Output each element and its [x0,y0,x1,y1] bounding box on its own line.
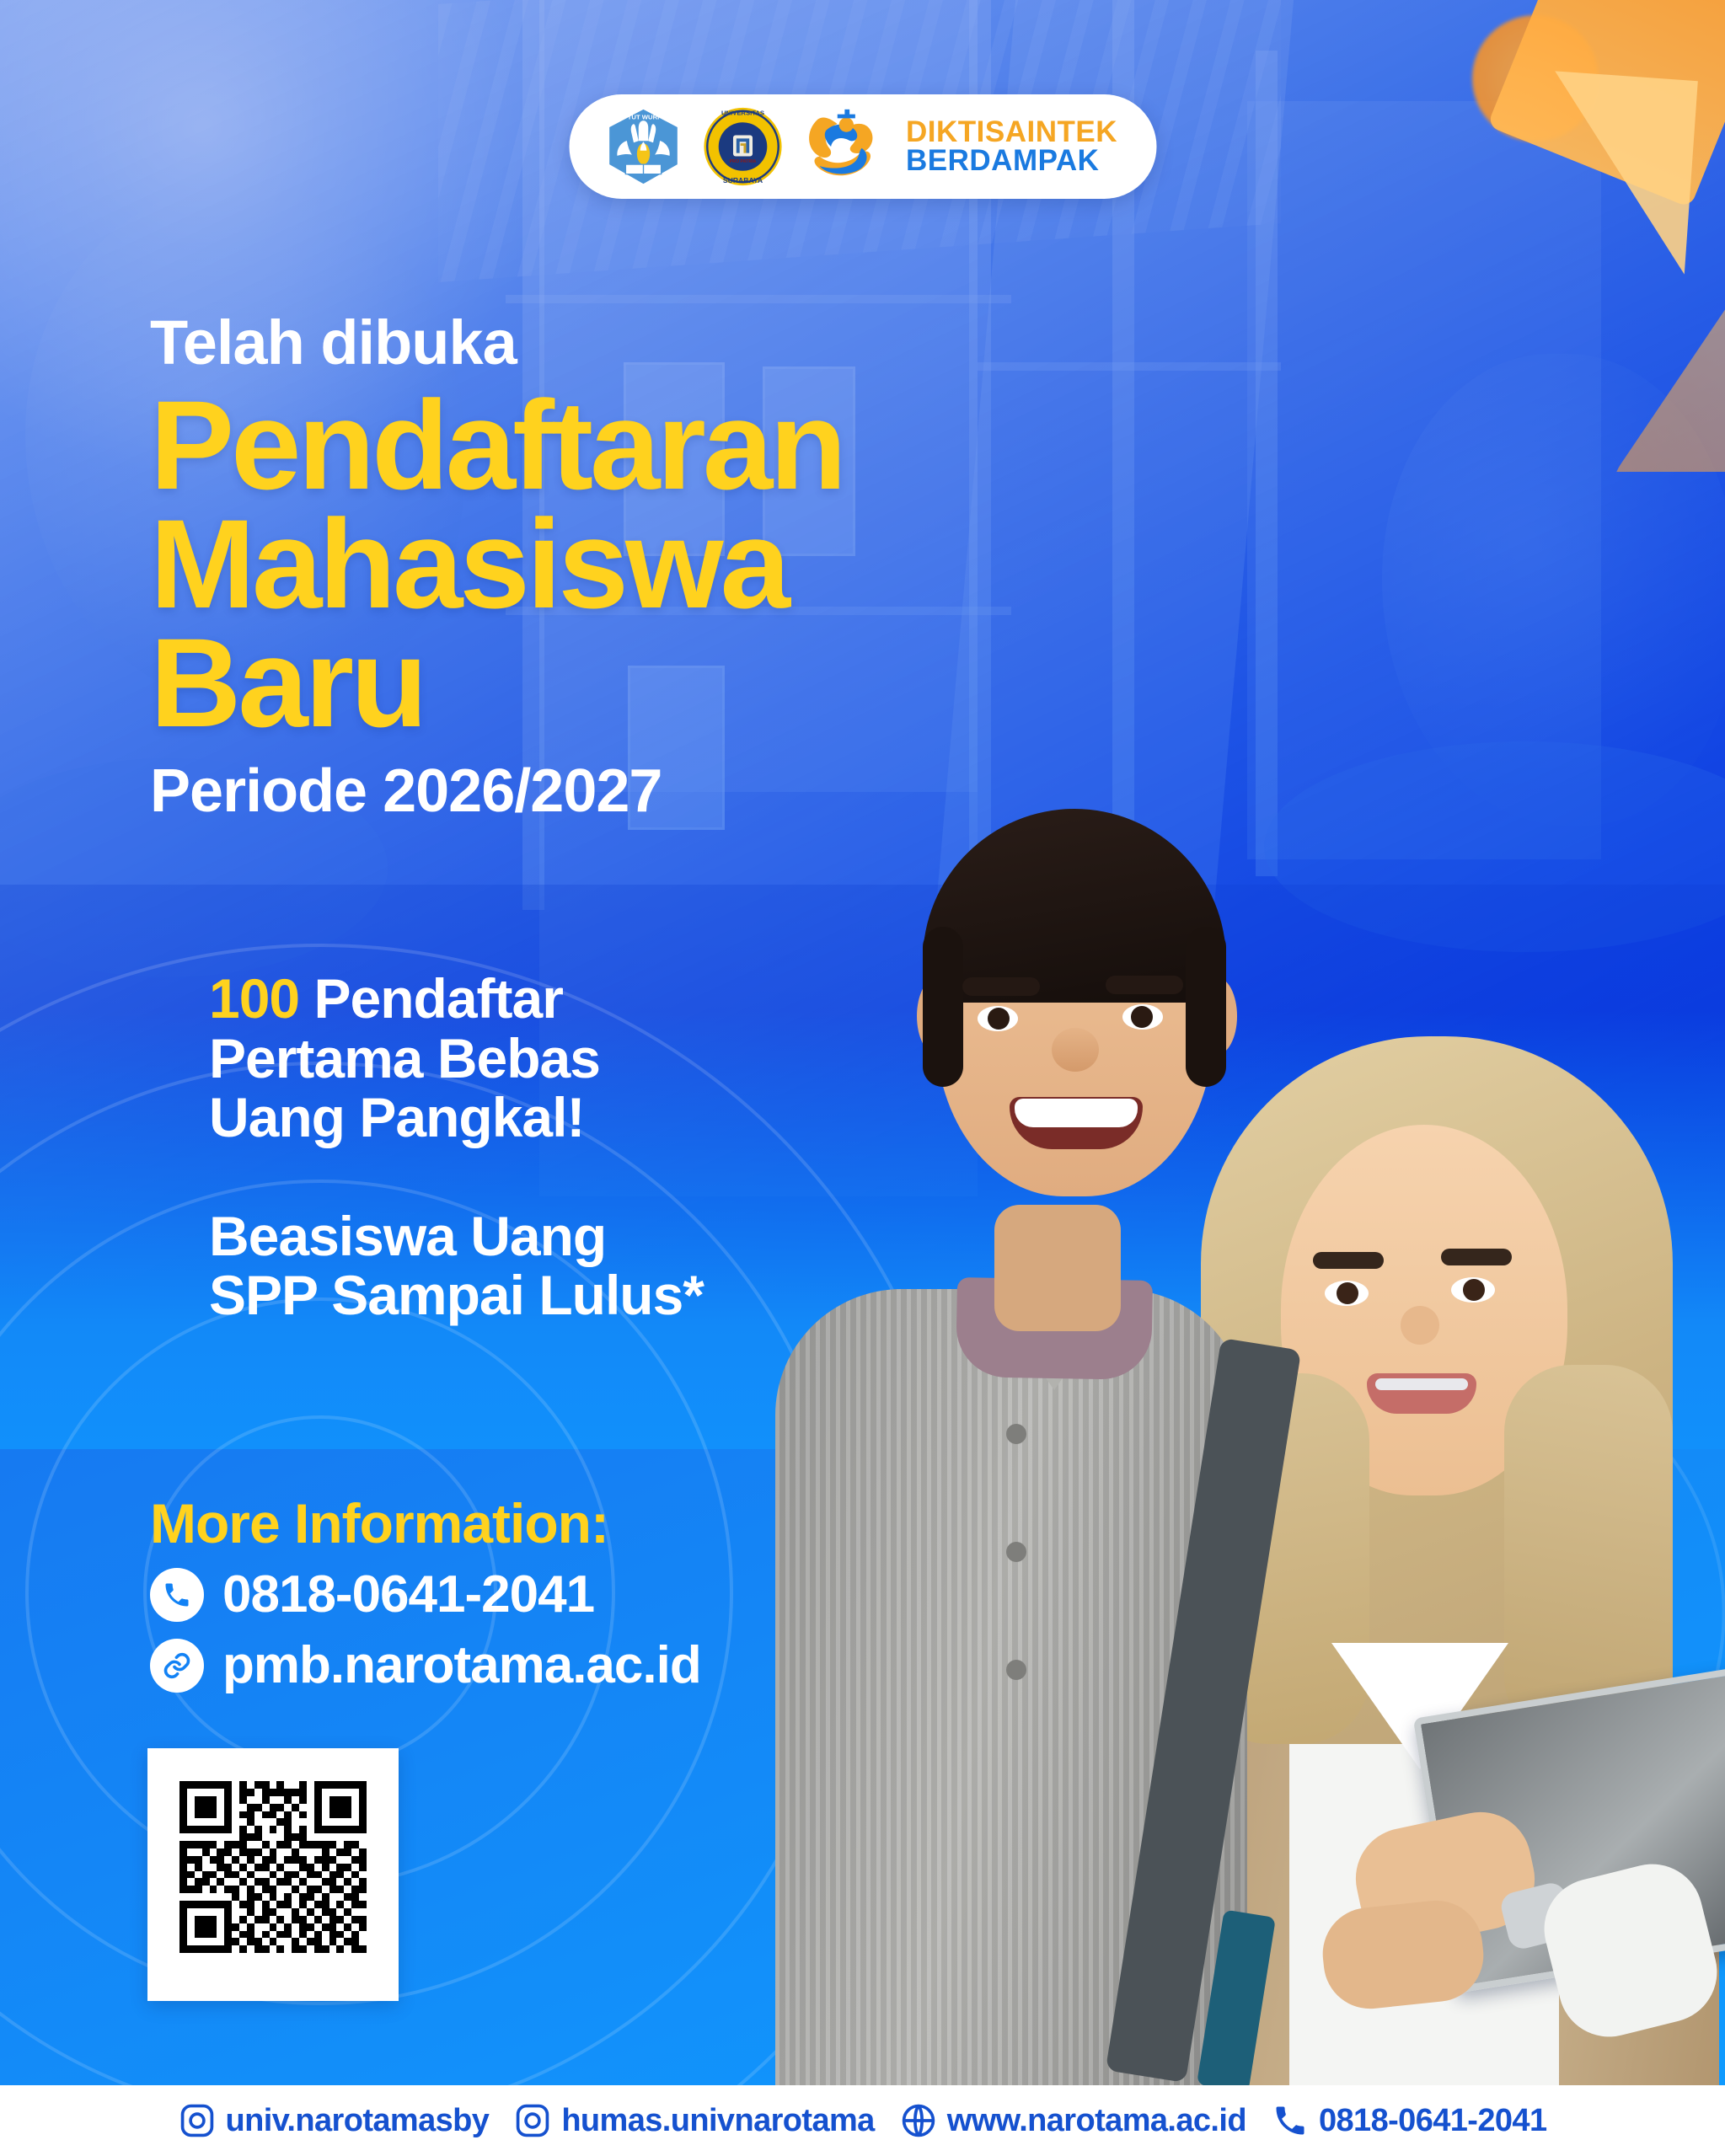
contact-phone-number: 0818-0641-2041 [222,1569,594,1621]
female-brow-left [1313,1252,1384,1269]
logo-bar: TUT WURI UNIVERSITAS SURABAYA PRO PATRIA [569,94,1156,199]
footer-bar: univ.narotamasby humas.univnarotama www.… [0,2085,1725,2156]
instagram-icon [179,2102,216,2139]
male-brow-left [962,977,1040,996]
shirt-button [1006,1542,1026,1562]
universitas-narotama-logo: UNIVERSITAS SURABAYA PRO PATRIA [702,106,783,187]
link-icon [150,1639,204,1693]
phone-icon [150,1568,204,1622]
svg-text:TUT WURI: TUT WURI [627,113,659,120]
male-sideburn-right [1186,927,1226,1087]
contact-website-row[interactable]: pmb.narotama.ac.id [150,1639,841,1693]
qr-code-card[interactable] [147,1748,399,2001]
male-nose [1052,1028,1099,1072]
footer-text: 0818-0641-2041 [1319,2103,1547,2139]
footer-text: univ.narotamasby [226,2103,490,2139]
qr-code [179,1781,367,1968]
instagram-icon [514,2102,551,2139]
svg-text:UNIVERSITAS: UNIVERSITAS [721,110,763,117]
female-pupil-left [1337,1282,1358,1304]
footer-text: humas.univnarotama [561,2103,874,2139]
footer-item-instagram-1[interactable]: univ.narotamasby [179,2102,490,2139]
diktisaintek-wordmark: DIKTISAINTEK BERDAMPAK [906,118,1122,176]
contact-phone-row[interactable]: 0818-0641-2041 [150,1568,841,1622]
contact-website-url: pmb.narotama.ac.id [222,1640,701,1692]
diktisaintek-line2: BERDAMPAK [906,147,1117,175]
headline-line-3: Baru [150,623,1144,742]
shirt-button [1006,1424,1026,1444]
diktisaintek-line1: DIKTISAINTEK [906,118,1117,147]
contact-block: More Information: 0818-0641-2041 pmb.nar… [150,1495,841,1693]
phone-icon [1272,2102,1309,2139]
male-brow-right [1106,976,1183,994]
eyebrow-text: Telah dibuka [150,312,1144,374]
tut-wuri-handayani-logo: TUT WURI [603,106,683,187]
students-photo [742,784,1725,2085]
footer-item-website[interactable]: www.narotama.ac.id [900,2102,1246,2139]
offer-highlight: 100 [209,967,299,1030]
male-pupil-right [1131,1006,1153,1028]
hero-copy: Telah dibuka Pendaftaran Mahasiswa Baru … [150,312,1144,821]
female-brow-right [1441,1249,1512,1265]
male-hair [923,809,1226,1003]
footer-item-instagram-2[interactable]: humas.univnarotama [514,2102,874,2139]
offer-rest: Pendaftar [299,967,563,1030]
headline-line-2: Mahasiswa [150,505,1144,623]
female-nose [1401,1306,1439,1345]
male-sideburn-left [923,927,963,1087]
svg-text:SURABAYA: SURABAYA [722,176,762,185]
more-information-heading: More Information: [150,1495,841,1551]
male-neck [994,1205,1121,1331]
footer-item-phone[interactable]: 0818-0641-2041 [1272,2102,1547,2139]
headline-line-1: Pendaftaran [150,386,1144,505]
shirt-button [1006,1660,1026,1680]
female-pupil-right [1463,1279,1485,1301]
globe-icon [900,2102,937,2139]
page-title: Pendaftaran Mahasiswa Baru [150,386,1144,742]
pmb-poster: TUT WURI UNIVERSITAS SURABAYA PRO PATRIA [0,0,1725,2156]
diktisaintek-swoosh-logo [801,106,882,187]
male-teeth [1015,1099,1138,1127]
footer-text: www.narotama.ac.id [947,2103,1246,2139]
female-braces [1375,1378,1468,1390]
male-pupil-left [988,1008,1010,1030]
svg-text:PRO PATRIA: PRO PATRIA [729,159,756,164]
